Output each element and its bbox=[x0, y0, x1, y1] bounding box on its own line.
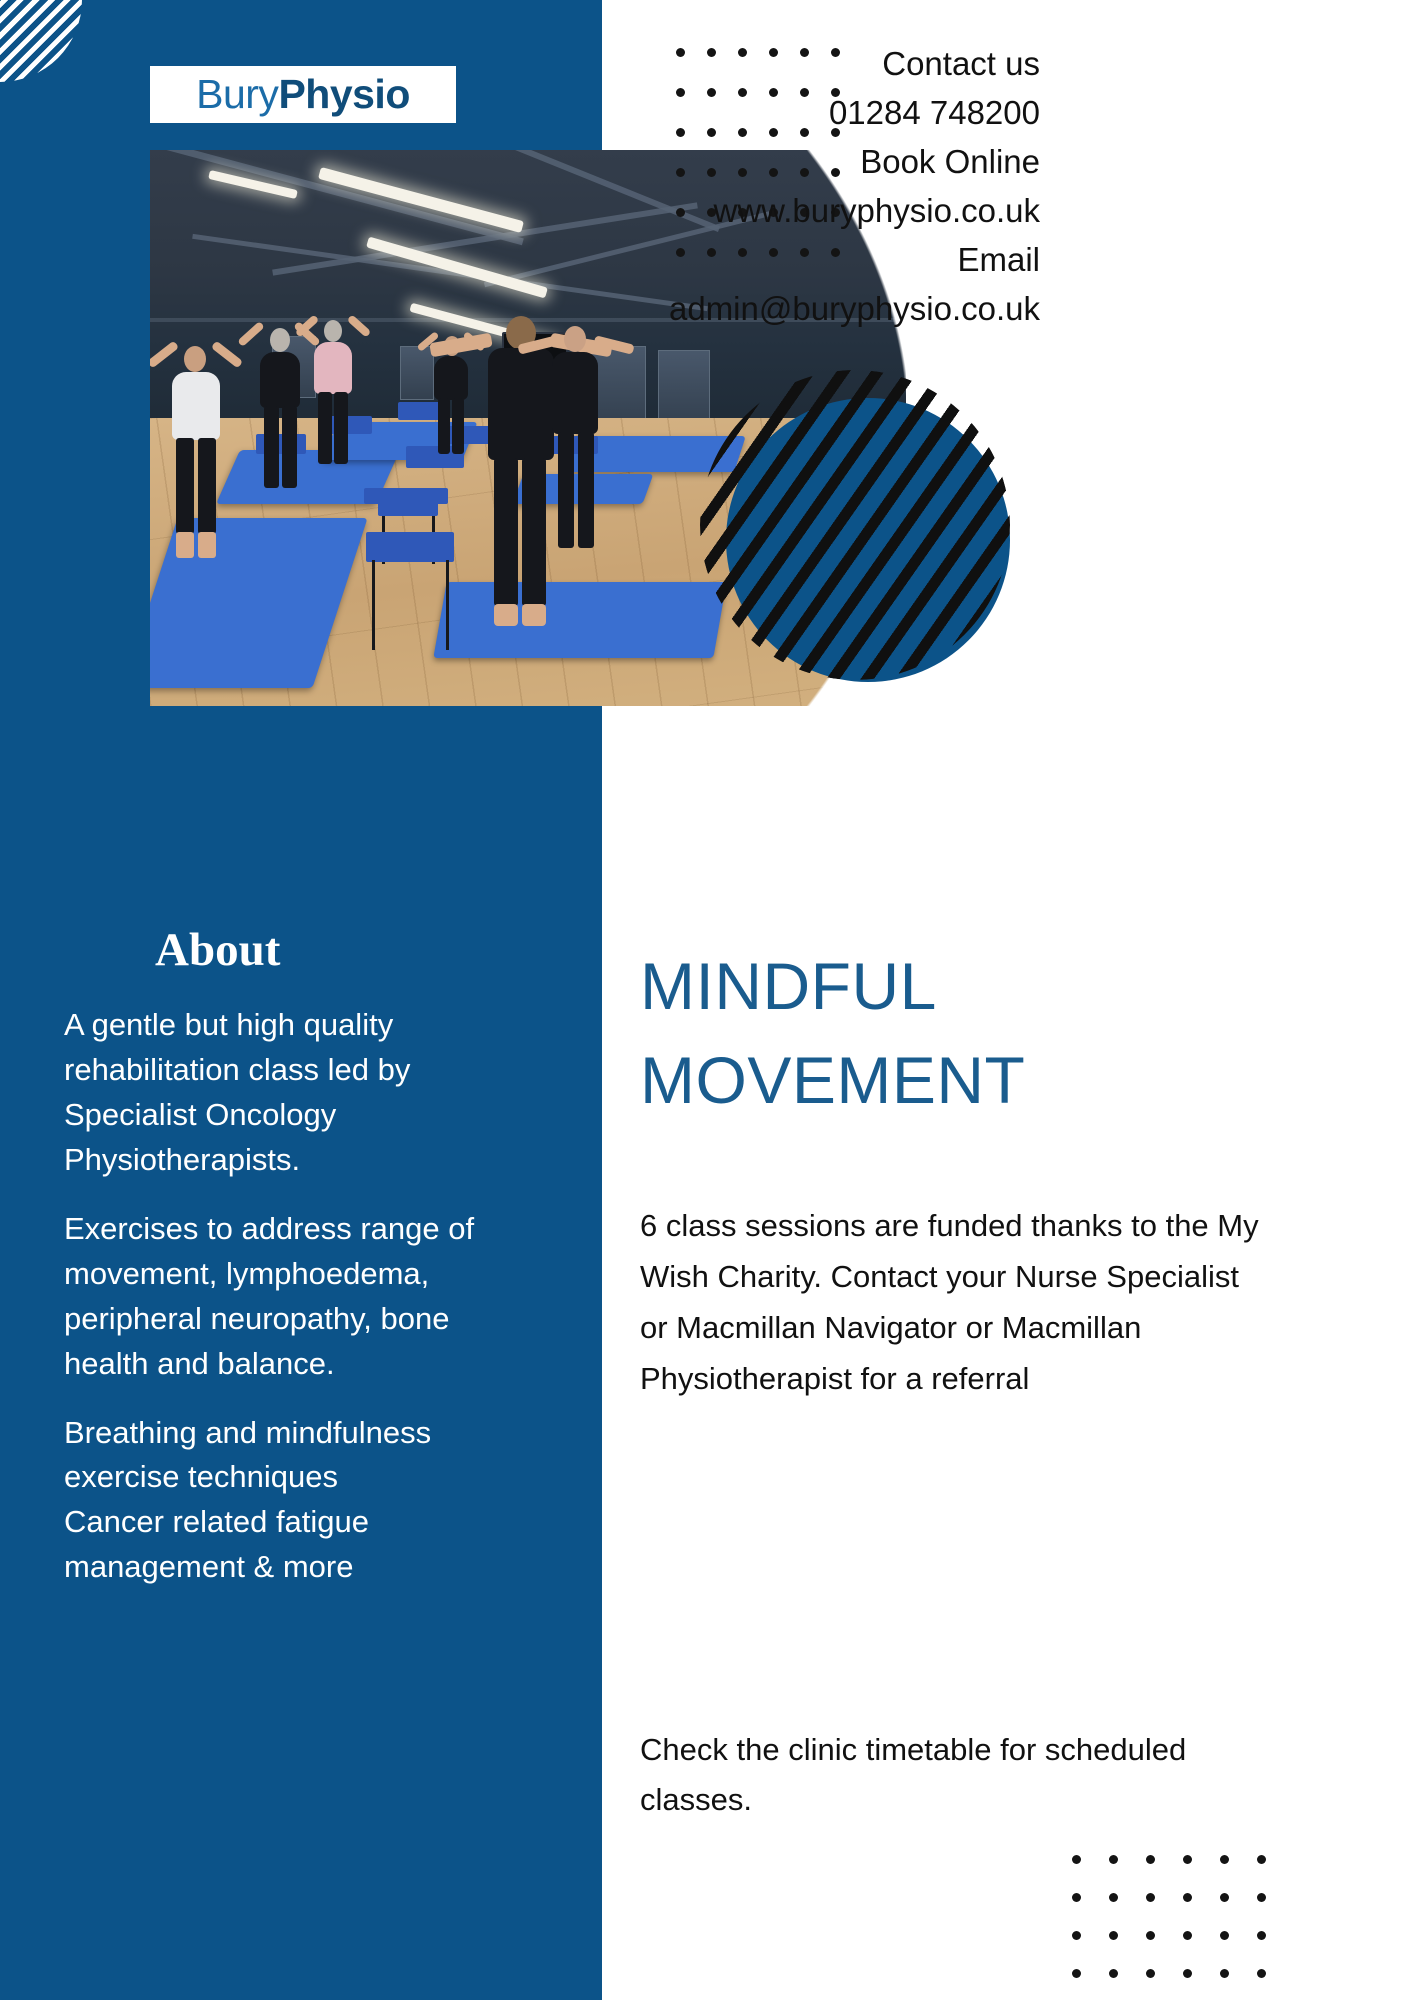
timetable-note: Check the clinic timetable for scheduled… bbox=[640, 1725, 1240, 1825]
dot-grid-decoration-bottom bbox=[1072, 1855, 1294, 2007]
contact-line-4: Email bbox=[400, 236, 1040, 285]
dot bbox=[1183, 1855, 1192, 1864]
dot bbox=[1183, 1893, 1192, 1902]
dot bbox=[1146, 1931, 1155, 1940]
dot bbox=[1257, 1931, 1266, 1940]
dot bbox=[1109, 1893, 1118, 1902]
dot bbox=[1220, 1931, 1229, 1940]
contact-line-2: Book Online bbox=[400, 138, 1040, 187]
logo-text-bury: Bury bbox=[196, 71, 278, 117]
contact-line-3: www.buryphysio.co.uk bbox=[400, 187, 1040, 236]
dot bbox=[1072, 1893, 1081, 1902]
about-paragraph-2: Breathing and mindfulness exercise techn… bbox=[64, 1411, 489, 1501]
dot bbox=[1220, 1855, 1229, 1864]
logo-text-physio: Physio bbox=[278, 71, 409, 117]
dot bbox=[1109, 1969, 1118, 1978]
striped-circle-decoration bbox=[700, 370, 1010, 680]
dot bbox=[1109, 1855, 1118, 1864]
dot bbox=[1257, 1893, 1266, 1902]
dot bbox=[1220, 1893, 1229, 1902]
contact-line-5: admin@buryphysio.co.uk bbox=[400, 285, 1040, 334]
dot bbox=[1220, 1969, 1229, 1978]
dot bbox=[1072, 1931, 1081, 1940]
page-title: MINDFUL MOVEMENT bbox=[640, 940, 1160, 1127]
dot bbox=[1146, 1893, 1155, 1902]
contact-line-1: 01284 748200 bbox=[400, 89, 1040, 138]
dot bbox=[1072, 1969, 1081, 1978]
main-body-paragraph: 6 class sessions are funded thanks to th… bbox=[640, 1200, 1270, 1405]
main-body-text: 6 class sessions are funded thanks to th… bbox=[640, 1200, 1270, 1405]
dot bbox=[1183, 1969, 1192, 1978]
dot bbox=[1257, 1855, 1266, 1864]
about-paragraph-0: A gentle but high quality rehabilitation… bbox=[64, 1003, 489, 1183]
dot bbox=[1109, 1931, 1118, 1940]
about-body-text: A gentle but high quality rehabilitation… bbox=[64, 1003, 489, 1590]
about-heading: About bbox=[155, 927, 280, 974]
dot bbox=[1072, 1855, 1081, 1864]
about-paragraph-1: Exercises to address range of movement, … bbox=[64, 1207, 489, 1387]
contact-line-0: Contact us bbox=[400, 40, 1040, 89]
dot bbox=[1183, 1931, 1192, 1940]
dot bbox=[1146, 1855, 1155, 1864]
page-title-line1: MINDFUL bbox=[640, 940, 1160, 1034]
about-paragraph-3: Cancer related fatigue management & more bbox=[64, 1500, 489, 1590]
dot bbox=[1257, 1969, 1266, 1978]
dot bbox=[1146, 1969, 1155, 1978]
page-title-line2: MOVEMENT bbox=[640, 1034, 1160, 1128]
